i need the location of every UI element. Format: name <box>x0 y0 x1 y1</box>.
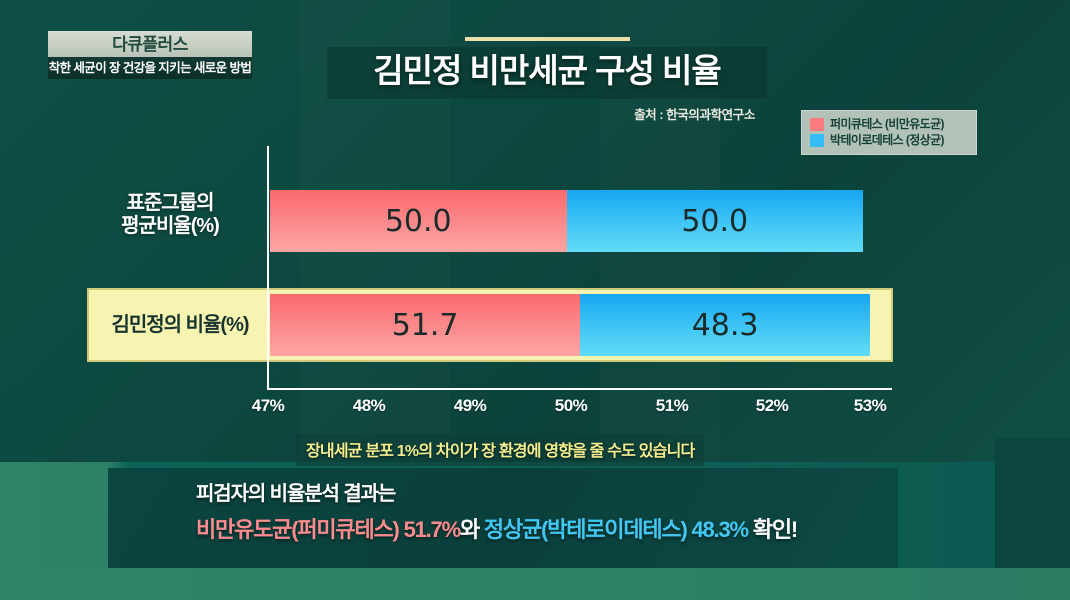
narration-line-1: 피검자의 비율분석 결과는 <box>196 477 896 506</box>
bar-segment-firmicutes-standard: 50.0 <box>270 190 567 252</box>
x-tick-3: 50% <box>541 396 601 416</box>
x-tick-6: 53% <box>840 396 900 416</box>
row-label-standard-group-line2: 평균비율(%) <box>80 215 260 238</box>
chart-caption: 장내세균 분포 1%의 차이가 장 환경에 영향을 줄 수도 있습니다 <box>296 434 704 466</box>
row-label-subject-line1: 김민정의 비율(%) <box>90 314 270 337</box>
row-label-subject: 김민정의 비율(%) <box>90 314 270 337</box>
narration-block: 피검자의 비율분석 결과는 비만유도균(퍼미큐테스) 51.7%와 정상균(박테… <box>196 477 896 544</box>
x-axis-tick-labels: 47% 48% 49% 50% 51% 52% 53% <box>0 396 1070 420</box>
chart-caption-text: 장내세균 분포 1%의 차이가 장 환경에 영향을 줄 수도 있습니다 <box>306 443 694 460</box>
bar-segment-firmicutes-subject: 51.7 <box>270 294 580 356</box>
bar-segment-bacteroidetes-subject: 48.3 <box>580 294 870 356</box>
x-axis-line <box>267 388 892 390</box>
stacked-bar-chart: 표준그룹의 평균비율(%) 50.0 50.0 김민정의 비율(%) 51.7 … <box>0 0 1070 462</box>
row-label-standard-group: 표준그룹의 평균비율(%) <box>80 192 260 238</box>
x-tick-5: 52% <box>742 396 802 416</box>
y-axis-line <box>267 146 269 390</box>
narration-bacteroidetes-result: 정상균(박테로이데테스) 48.3% <box>484 517 748 542</box>
narration-tail: 확인! <box>748 517 797 542</box>
x-tick-4: 51% <box>642 396 702 416</box>
x-tick-1: 48% <box>339 396 399 416</box>
narration-firmicutes-result: 비만유도균(퍼미큐테스) 51.7% <box>196 517 460 542</box>
bar-value-firmicutes-standard: 50.0 <box>385 204 452 239</box>
row-label-standard-group-line1: 표준그룹의 <box>80 192 260 215</box>
bar-standard-group: 50.0 50.0 <box>270 190 863 252</box>
bar-segment-bacteroidetes-standard: 50.0 <box>567 190 864 252</box>
background-footer-bar <box>0 568 1070 600</box>
x-tick-0: 47% <box>238 396 298 416</box>
x-tick-2: 49% <box>440 396 500 416</box>
bar-value-bacteroidetes-subject: 48.3 <box>692 308 759 343</box>
broadcast-infographic: 다큐플러스 착한 세균이 장 건강을 지키는 새로운 방법 김민정 비만세균 구… <box>0 0 1070 600</box>
narration-line-2: 비만유도균(퍼미큐테스) 51.7%와 정상균(박테로이데테스) 48.3% 확… <box>196 512 896 544</box>
bar-value-bacteroidetes-standard: 50.0 <box>681 204 748 239</box>
narration-conjunction: 와 <box>460 517 479 542</box>
bar-subject: 51.7 48.3 <box>270 294 870 356</box>
bar-value-firmicutes-subject: 51.7 <box>392 308 459 343</box>
